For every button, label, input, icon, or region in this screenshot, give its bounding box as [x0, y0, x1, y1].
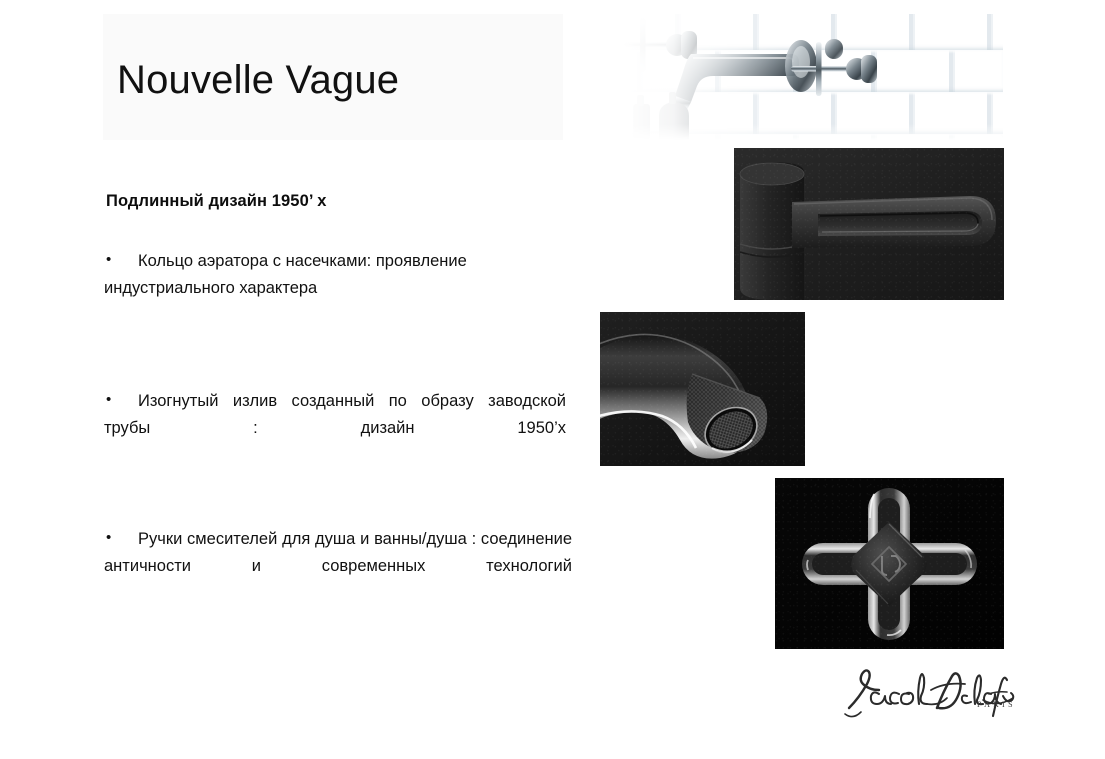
bullet-marker-icon: •: [106, 248, 111, 272]
black-curved-spout-photo: [600, 312, 805, 466]
slide-title: Nouvelle Vague: [117, 60, 399, 100]
photo-fade-left: [563, 14, 793, 140]
bullet-text: Ручки смесителей для душа и ванны/душа :…: [104, 526, 572, 606]
photo-fade-bottom: [563, 124, 1003, 140]
black-cross-handle-photo: [775, 478, 1004, 649]
bullet-item-1: • Кольцо аэратора с насечками: проявлени…: [104, 248, 549, 301]
bullet-text: Изогнутый излив созданный по образу заво…: [104, 388, 566, 468]
black-lever-handle-photo: [734, 148, 1004, 300]
body-heading: Подлинный дизайн 1950’ х: [106, 192, 327, 211]
bullet-marker-icon: •: [106, 388, 111, 412]
bullet-item-2: • Изогнутый излив созданный по образу за…: [104, 388, 566, 468]
bullet-item-3: • Ручки смесителей для душа и ванны/душа…: [104, 526, 572, 606]
jacob-delafon-logo: [843, 664, 1015, 726]
bullet-marker-icon: •: [106, 526, 111, 550]
bullet-text: Кольцо аэратора с насечками: проявление …: [104, 248, 549, 301]
bathroom-faucet-banner-photo: [563, 14, 1003, 140]
brand-location-label: PARIS: [977, 700, 1016, 709]
